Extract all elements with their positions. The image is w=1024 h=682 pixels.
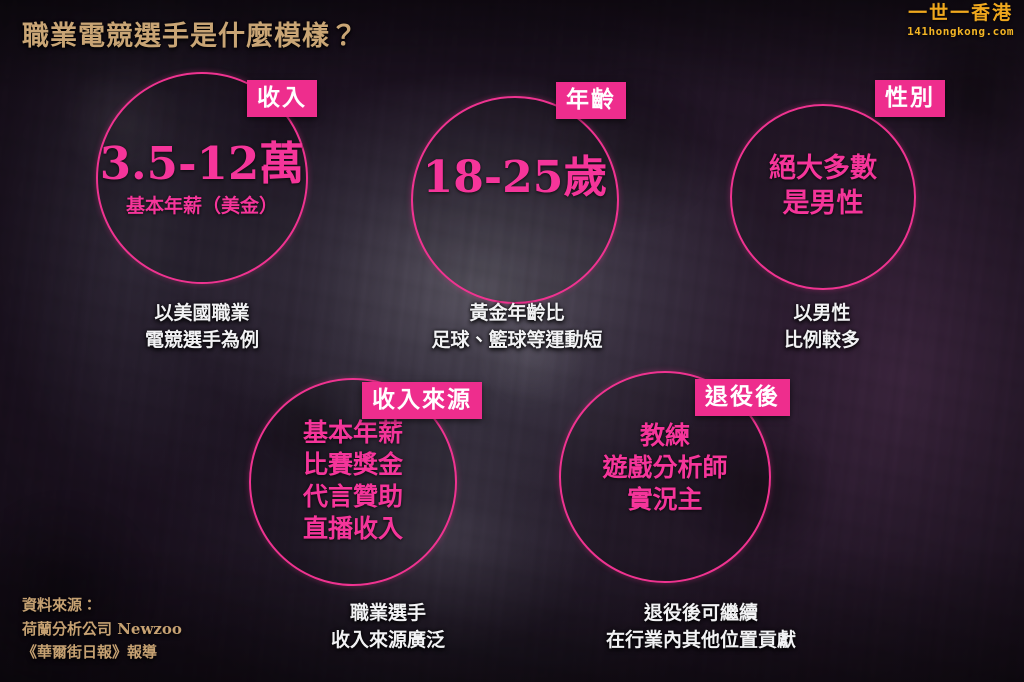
watermark-brand-name: 一世一香港 — [907, 4, 1014, 23]
bubble-age — [411, 96, 619, 304]
caption-income-source: 職業選手 收入來源廣泛 — [268, 600, 508, 654]
infographic-poster: 職業電競選手是什麼模樣？ 一世一香港 141hongkong.com 3.5-1… — [0, 0, 1024, 682]
caption-income-source-line2: 收入來源廣泛 — [268, 627, 508, 654]
caption-after-retirement-line2: 在行業內其他位置貢獻 — [566, 627, 836, 654]
page-title: 職業電競選手是什麼模樣？ — [22, 14, 358, 53]
bubble-gender — [730, 104, 916, 290]
caption-after-retirement: 退役後可繼續 在行業內其他位置貢獻 — [566, 600, 836, 654]
source-note: 資料來源： 荷蘭分析公司 Newzoo 《華爾街日報》報導 — [22, 594, 182, 664]
caption-age-line2: 足球、籃球等運動短 — [394, 327, 640, 354]
caption-income: 以美國職業 電競選手為例 — [82, 300, 322, 354]
caption-age: 黃金年齡比 足球、籃球等運動短 — [394, 300, 640, 354]
tag-gender[interactable]: 性別 — [875, 80, 945, 117]
tag-after-retirement[interactable]: 退役後 — [695, 379, 790, 416]
source-line-2: 荷蘭分析公司 Newzoo — [22, 618, 182, 641]
caption-income-line1: 以美國職業 — [82, 300, 322, 327]
source-label: 資料來源： — [22, 594, 182, 617]
tag-age[interactable]: 年齡 — [556, 82, 626, 119]
tag-income[interactable]: 收入 — [247, 80, 317, 117]
watermark-brand-url: 141hongkong.com — [907, 26, 1014, 37]
tag-income-source[interactable]: 收入來源 — [362, 382, 482, 419]
caption-gender-line2: 比例較多 — [722, 327, 922, 354]
caption-gender: 以男性 比例較多 — [722, 300, 922, 354]
caption-income-line2: 電競選手為例 — [82, 327, 322, 354]
caption-gender-line1: 以男性 — [722, 300, 922, 327]
source-line-3: 《華爾街日報》報導 — [22, 641, 182, 664]
caption-income-source-line1: 職業選手 — [268, 600, 508, 627]
watermark-logo[interactable]: 一世一香港 141hongkong.com — [907, 4, 1014, 37]
caption-age-line1: 黃金年齡比 — [394, 300, 640, 327]
caption-after-retirement-line1: 退役後可繼續 — [566, 600, 836, 627]
